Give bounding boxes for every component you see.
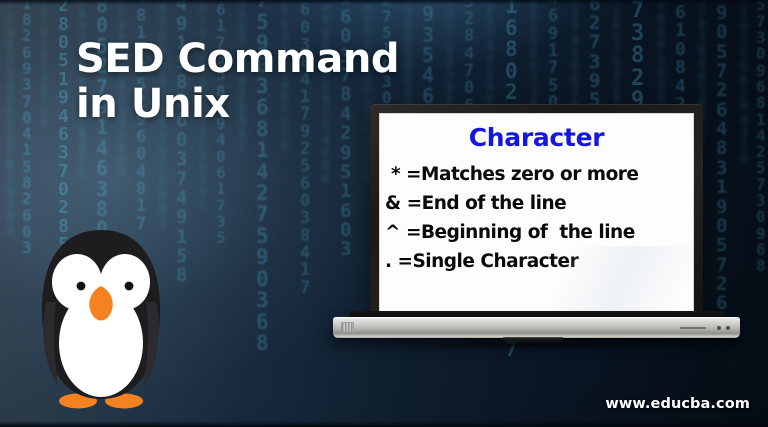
rain-column: 2 5 7 3 0 9 6 8 1 4 2 5 7 3 0 9 6 8 <box>756 0 766 275</box>
screen-line-item: * =Matches zero or more <box>385 160 694 189</box>
rain-column: 0 5 1 8 2 6 9 3 7 0 4 1 5 8 2 6 0 3 <box>22 0 32 257</box>
indicator-dot-icon <box>726 326 730 330</box>
laptop-illustration: Character * =Matches zero or more & =End… <box>333 104 743 344</box>
screen-heading: Character <box>379 123 694 152</box>
screen-line-item: . =Single Character <box>385 247 694 276</box>
banner-root: 7 2 0 9 3 1 4 8 0 5 2 7 6 1 9 3 0 40 5 1… <box>0 0 768 427</box>
laptop-lid: Character * =Matches zero or more & =End… <box>370 104 703 323</box>
linux-penguin-icon <box>36 224 166 414</box>
penguin-pupil-left <box>77 282 86 291</box>
penguin-pupil-right <box>125 282 134 291</box>
rain-column: 3 9 4 1 7 0 2 8 5 6 3 9 1 4 0 7 2 8 <box>41 0 48 128</box>
laptop-screen: Character * =Matches zero or more & =End… <box>379 113 694 312</box>
base-slot <box>680 327 706 329</box>
speaker-grille-icon <box>341 322 354 333</box>
rain-column: 7 2 0 9 3 1 4 8 0 5 2 7 6 1 9 3 0 4 <box>6 0 14 239</box>
top-edge-shade <box>0 0 768 5</box>
screen-line-item: ^ =Beginning of the line <box>385 218 694 247</box>
bottom-edge-shade <box>0 421 768 427</box>
screen-content-list: * =Matches zero or more & =End of the li… <box>379 160 694 276</box>
headline-line-1: SED Command <box>76 36 399 82</box>
screen-line-item: & =End of the line <box>385 189 694 218</box>
laptop-drop-shadow <box>345 340 729 350</box>
indicator-dot-icon <box>717 326 721 330</box>
laptop-base <box>333 317 740 338</box>
watermark-url: www.educba.com <box>605 396 750 412</box>
